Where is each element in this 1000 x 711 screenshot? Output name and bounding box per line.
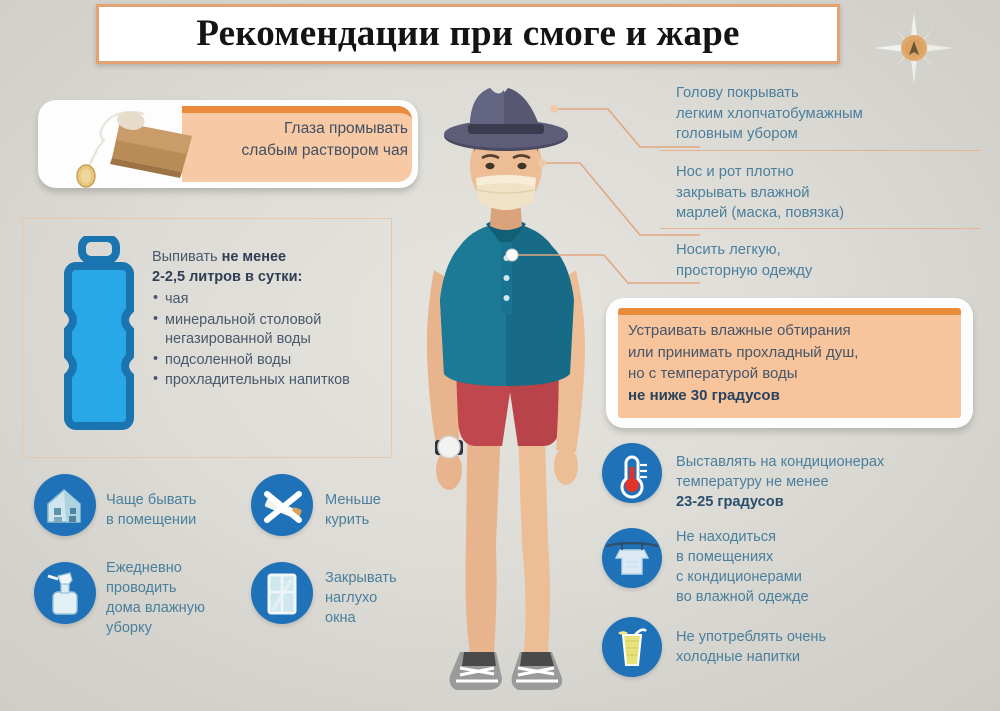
item-line: во влажной одежде (676, 587, 976, 607)
callout-line: закрывать влажной (676, 183, 976, 204)
no-smoking-icon (251, 474, 313, 536)
tea-card: Глаза промывать слабым раствором чая (38, 100, 418, 188)
title-frame: Рекомендации при смоге и жаре (96, 4, 840, 64)
right-item-cold-drinks-label: Не употреблять очень холодные напитки (676, 627, 976, 667)
callout-divider (660, 228, 980, 229)
shower-line: или принимать прохладный душ, (628, 342, 958, 364)
list-item: чая (152, 290, 384, 310)
callout-nose-mouth: Нос и рот плотно закрывать влажной марле… (676, 162, 976, 224)
shower-card-text: Устраивать влажные обтирания или принима… (628, 320, 958, 406)
item-line: Меньше (325, 490, 475, 510)
water-lead: Выпивать не менее (152, 248, 384, 268)
house-icon (34, 474, 96, 536)
page-title: Рекомендации при смоге и жаре (99, 7, 837, 61)
shower-line: Устраивать влажные обтирания (628, 320, 958, 342)
right-item-wet-clothes-label: Не находиться в помещениях с кондиционер… (676, 527, 976, 607)
water-bottle-icon (58, 236, 140, 436)
item-line-bold: 23-25 градусов (676, 494, 784, 510)
water-lead-bold-2: 2-2,5 литров в сутки: (152, 269, 302, 285)
infographic-poster: Рекомендации при смоге и жаре (0, 0, 1000, 711)
water-lead-prefix: Выпивать (152, 249, 222, 265)
callout-line: Голову покрывать (676, 83, 976, 104)
left-item-windows-label: Закрывать наглухо окна (325, 568, 475, 628)
shower-line-bold: не ниже 30 градусов (628, 387, 780, 404)
list-item: прохладительных напитков (152, 371, 384, 391)
item-line: курить (325, 510, 475, 530)
spray-bottle-icon (34, 562, 96, 624)
tea-line-2: слабым раствором чая (192, 140, 408, 162)
callout-light-clothes: Носить легкую, просторную одежду (676, 240, 976, 281)
list-item: подсоленной воды (152, 351, 384, 371)
item-line: Не употреблять очень (676, 627, 976, 647)
item-line: с кондиционерами (676, 567, 976, 587)
item-line: в помещениях (676, 547, 976, 567)
item-line: Выставлять на кондиционерах (676, 452, 976, 472)
item-line: Закрывать (325, 568, 475, 588)
shower-line: но с температурой воды (628, 363, 958, 385)
cold-drink-icon (602, 617, 662, 677)
callout-divider (660, 150, 980, 151)
callout-line: марлей (маска, повязка) (676, 203, 976, 224)
closed-window-icon (251, 562, 313, 624)
list-item: минеральной столовой негазированной воды (152, 311, 384, 350)
left-item-smoking-label: Меньше курить (325, 490, 475, 530)
item-line: холодные напитки (676, 647, 976, 667)
right-item-thermostat-label: Выставлять на кондиционерах температуру … (676, 452, 976, 512)
water-panel-text: Выпивать не менее 2-2,5 литров в сутки: … (152, 248, 384, 391)
callout-line: Нос и рот плотно (676, 162, 976, 183)
item-line: Не находиться (676, 527, 976, 547)
item-line: температуру не менее (676, 472, 976, 492)
callout-line: легким хлопчатобумажным (676, 104, 976, 125)
callout-line: головным убором (676, 124, 976, 145)
callout-head-cover: Голову покрывать легким хлопчатобумажным… (676, 83, 976, 145)
water-lead-bold-1: не менее (222, 249, 287, 265)
water-list: чая минеральной столовой негазированной … (152, 290, 384, 391)
thermometer-icon (602, 443, 662, 503)
clothesline-icon (602, 528, 662, 588)
callout-line: Носить легкую, (676, 240, 976, 261)
tea-line-1: Глаза промывать (192, 118, 408, 140)
item-line: наглухо (325, 588, 475, 608)
callout-line: просторную одежду (676, 261, 976, 282)
water-lead-2: 2-2,5 литров в сутки: (152, 268, 384, 288)
compass-rose-icon (866, 8, 962, 88)
item-line: окна (325, 608, 475, 628)
tea-card-text: Глаза промывать слабым раствором чая (192, 118, 408, 162)
shower-card: Устраивать влажные обтирания или принима… (606, 298, 973, 428)
